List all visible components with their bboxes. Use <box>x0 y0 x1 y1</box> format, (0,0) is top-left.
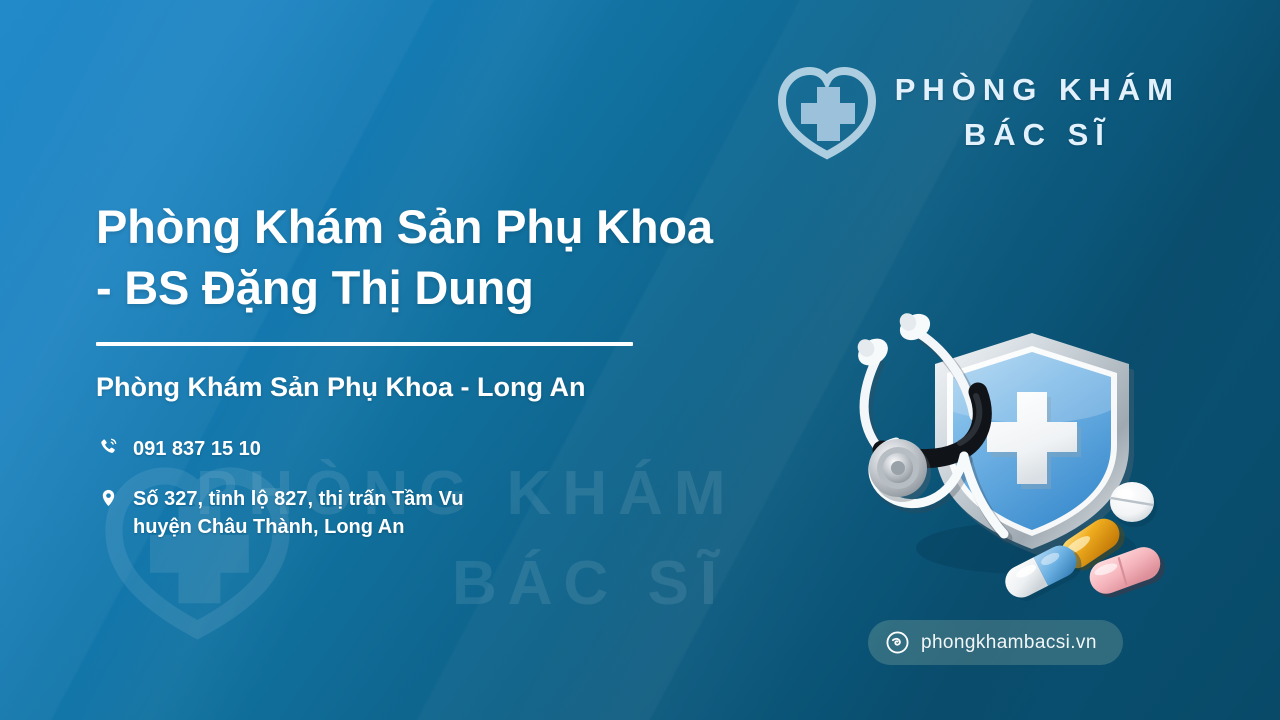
clinic-title: Phòng Khám Sản Phụ Khoa - BS Đặng Thị Du… <box>96 196 856 318</box>
stethoscope <box>853 309 1007 538</box>
website-badge[interactable]: phongkhambacsi.vn <box>868 620 1123 665</box>
brand-logo: PHÒNG KHÁM BÁC SĨ <box>777 62 1180 162</box>
clinic-title-line-1: Phòng Khám Sản Phụ Khoa <box>96 196 856 257</box>
brand-logo-line-2: BÁC SĨ <box>964 117 1111 153</box>
address-row[interactable]: Số 327, tỉnh lộ 827, thị trấn Tầm Vu huy… <box>96 485 856 542</box>
promo-banner: PHÒNG KHÁM BÁC SĨ PHÒNG KHÁM BÁC SĨ Phòn… <box>0 0 1280 720</box>
clinic-title-line-2: - BS Đặng Thị Dung <box>96 257 856 318</box>
clinic-subtitle: Phòng Khám Sản Phụ Khoa - Long An <box>96 372 856 403</box>
address-line-1: Số 327, tỉnh lộ 827, thị trấn Tầm Vu <box>133 485 463 513</box>
phone-number: 091 837 15 10 <box>133 435 261 463</box>
brand-logo-text: PHÒNG KHÁM BÁC SĨ <box>895 72 1180 153</box>
website-url: phongkhambacsi.vn <box>921 632 1097 654</box>
watermark-line-2: BÁC SĨ <box>452 548 728 619</box>
stethoscope-shield-pills-illustration <box>836 300 1176 610</box>
phone-row[interactable]: 091 837 15 10 <box>96 435 856 463</box>
medical-cross-heart-logo-icon <box>777 62 877 162</box>
white-round-tablet <box>1110 482 1157 527</box>
phone-call-icon <box>96 435 120 461</box>
address-line-2: huyện Châu Thành, Long An <box>133 513 463 541</box>
map-pin-icon <box>96 485 120 511</box>
globe-icon <box>886 631 909 654</box>
title-divider <box>96 342 633 346</box>
banner-content: Phòng Khám Sản Phụ Khoa - BS Đặng Thị Du… <box>96 196 856 541</box>
contact-info: 091 837 15 10 Số 327, tỉnh lộ 827, thị t… <box>96 435 856 541</box>
address-text: Số 327, tỉnh lộ 827, thị trấn Tầm Vu huy… <box>133 485 463 542</box>
brand-logo-line-1: PHÒNG KHÁM <box>895 72 1180 108</box>
